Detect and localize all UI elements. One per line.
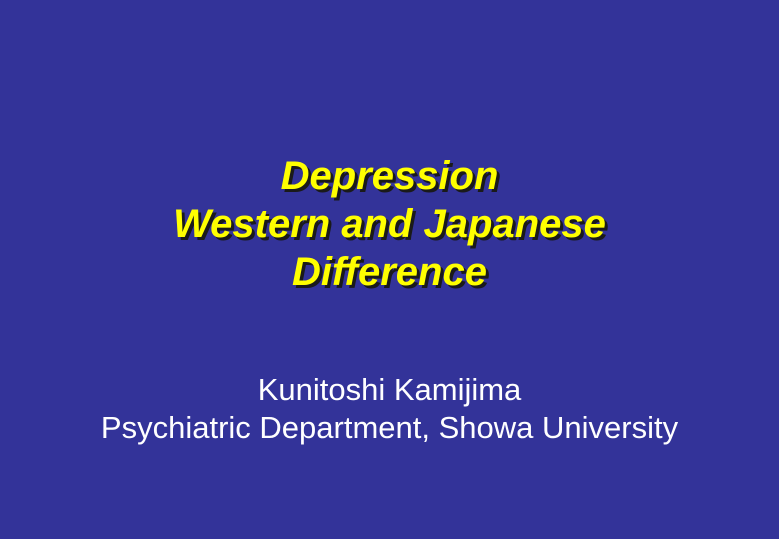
- presentation-slide: Depression Western and Japanese Differen…: [0, 0, 779, 539]
- title-line-1: Depression: [0, 152, 779, 200]
- author-affiliation: Psychiatric Department, Showa University: [0, 409, 779, 447]
- author-name: Kunitoshi Kamijima: [0, 371, 779, 409]
- slide-byline: Kunitoshi Kamijima Psychiatric Departmen…: [0, 371, 779, 447]
- slide-title: Depression Western and Japanese Differen…: [0, 152, 779, 296]
- title-line-3: Difference: [0, 248, 779, 296]
- title-line-2: Western and Japanese: [0, 200, 779, 248]
